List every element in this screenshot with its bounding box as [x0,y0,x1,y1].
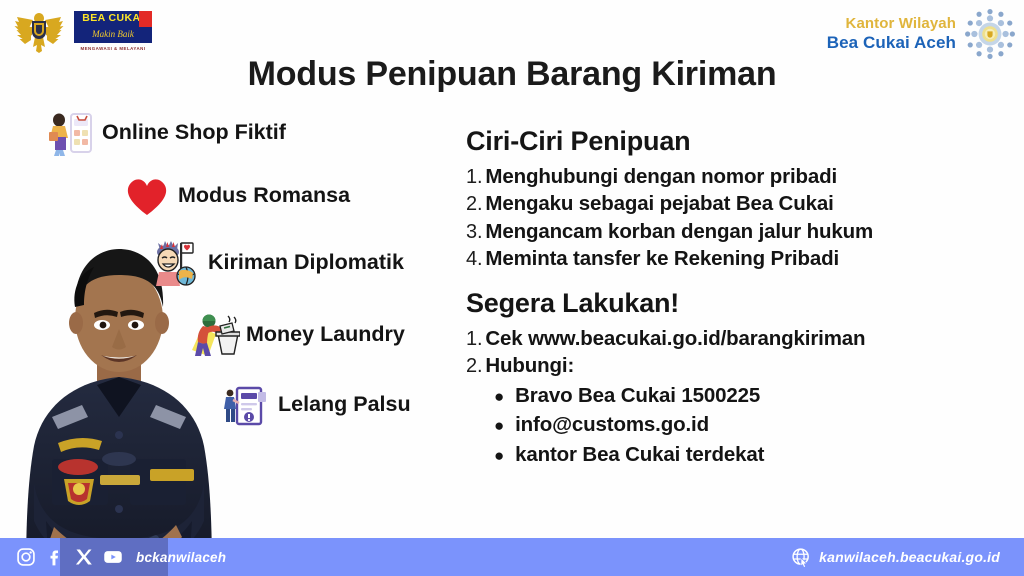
bea-cukai-logo-line3: MENGAWASI & MELAYANI [80,46,145,51]
list-item[interactable]: Online Shop Fiktif [46,108,460,158]
modus-list: Online Shop Fiktif Modus Romansa [0,108,460,443]
contact-bullet-list: ● Bravo Bea Cukai 1500225 ● info@customs… [494,381,1014,468]
website-label: kanwilaceh.beacukai.go.id [819,549,1000,565]
instagram-icon[interactable] [16,547,36,567]
list-item-number: 2. [466,353,482,379]
globe-cursor-icon [791,547,811,567]
footer-website-group[interactable]: kanwilaceh.beacukai.go.id [791,538,1000,576]
right-content-column: Ciri-Ciri Penipuan 1. Menghubungi dengan… [466,126,1014,469]
list-item-label: Hubungi: [485,352,574,379]
list-item[interactable]: Kiriman Diplomatik [152,238,460,288]
bullet-dot-icon: ● [494,388,504,405]
list-item-label: Lelang Palsu [278,394,411,416]
bea-cukai-logo-line1: BEA CUKAI [82,13,144,24]
kantor-wilayah-label: Kantor Wilayah [827,16,956,33]
list-item-label: Kiriman Diplomatik [208,252,404,274]
bullet-dot-icon: ● [494,447,504,464]
fake-auction-document-icon [222,380,272,430]
bea-cukai-logo: BEA CUKAI Makin Baik MENGAWASI & MELAYAN… [74,11,152,53]
list-item-label: Money Laundry [246,324,405,346]
list-item: ● Bravo Bea Cukai 1500225 [494,381,1014,410]
list-item[interactable]: Modus Romansa [122,171,460,221]
list-item-label: kantor Bea Cukai terdekat [515,440,764,469]
list-item-label: Menghubungi dengan nomor pribadi [485,163,837,190]
list-item: ● kantor Bea Cukai terdekat [494,440,1014,469]
list-item-number: 1. [466,164,482,190]
list-item: ● info@customs.go.id [494,410,1014,439]
bea-cukai-logo-line2: Makin Baik [92,30,134,39]
segera-lakukan-list: 1. Cek www.beacukai.go.id/barangkiriman … [466,325,1014,380]
list-item: 2. Mengaku sebagai pejabat Bea Cukai [466,190,1014,217]
online-shopping-icon [46,108,96,158]
list-item-number: 3. [466,219,482,245]
list-item-number: 1. [466,326,482,352]
money-laundering-icon [190,310,240,360]
red-heart-icon [122,171,172,221]
footer-bar: bckanwilaceh kanwilaceh.beacukai.go.id [0,538,1024,576]
header-right-text: Kantor Wilayah Bea Cukai Aceh [827,16,956,52]
bea-cukai-logo-line3-row: MENGAWASI & MELAYANI [74,43,152,53]
footer-social-group: bckanwilaceh [16,547,226,567]
list-item: 2. Hubungi: [466,352,1014,379]
page-title: Modus Penipuan Barang Kiriman [0,55,1024,94]
list-item-label: Mengaku sebagai pejabat Bea Cukai [485,190,833,217]
mandala-emblem-icon [964,8,1016,60]
facebook-icon[interactable] [45,547,65,567]
diplomat-flag-icon [152,238,202,288]
list-item-number: 4. [466,246,482,272]
infographic-poster: BEA CUKAI Makin Baik MENGAWASI & MELAYAN… [0,0,1024,576]
garuda-emblem-icon [14,10,64,54]
list-item: 1. Cek www.beacukai.go.id/barangkiriman [466,325,1014,352]
header-right-branding: Kantor Wilayah Bea Cukai Aceh [827,8,1016,60]
bullet-dot-icon: ● [494,417,504,434]
bea-cukai-logo-colorbar [139,11,152,43]
youtube-icon[interactable] [103,547,123,567]
section-heading-ciri-ciri: Ciri-Ciri Penipuan [466,126,1014,157]
list-item-label: Mengancam korban dengan jalur hukum [485,218,873,245]
list-item-number: 2. [466,191,482,217]
header-left-logos: BEA CUKAI Makin Baik MENGAWASI & MELAYAN… [14,10,152,54]
ciri-ciri-list: 1. Menghubungi dengan nomor pribadi 2. M… [466,163,1014,273]
bea-cukai-aceh-label: Bea Cukai Aceh [827,33,956,52]
list-item: 3. Mengancam korban dengan jalur hukum [466,218,1014,245]
list-item-label: Modus Romansa [178,185,350,207]
list-item[interactable]: Lelang Palsu [222,380,460,430]
list-item-label: Bravo Bea Cukai 1500225 [515,381,760,410]
list-item: 1. Menghubungi dengan nomor pribadi [466,163,1014,190]
x-twitter-icon[interactable] [74,547,94,567]
list-item: 4. Meminta tansfer ke Rekening Pribadi [466,245,1014,272]
list-item-label: info@customs.go.id [515,410,709,439]
list-item-label: Cek www.beacukai.go.id/barangkiriman [485,325,865,352]
section-heading-segera-lakukan: Segera Lakukan! [466,288,1014,319]
list-item-label: Online Shop Fiktif [102,122,286,144]
list-item-label: Meminta tansfer ke Rekening Pribadi [485,245,839,272]
social-handle: bckanwilaceh [136,550,226,565]
list-item[interactable]: Money Laundry [190,310,460,360]
